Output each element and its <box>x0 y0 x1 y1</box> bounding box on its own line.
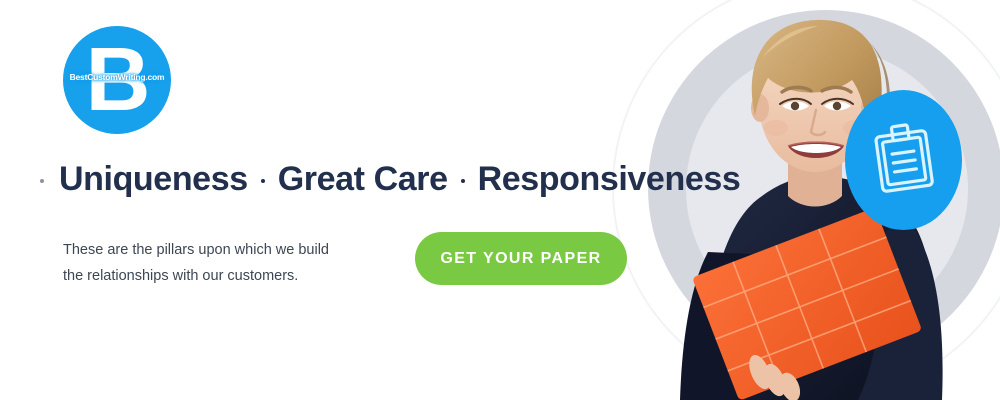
subcopy: These are the pillars upon which we buil… <box>63 237 363 289</box>
clipboard-badge <box>845 90 962 230</box>
subcopy-line-2: the relationships with our customers. <box>63 263 363 289</box>
hero-banner: B BestCustomWriting.com Uniqueness Great… <box>0 0 1000 400</box>
headline-separator-dot <box>461 179 465 183</box>
clipboard-icon <box>866 117 940 202</box>
headline-word-responsiveness: Responsiveness <box>478 160 741 199</box>
site-logo[interactable]: B BestCustomWriting.com <box>63 26 171 134</box>
get-your-paper-button[interactable]: GET YOUR PAPER <box>415 232 627 285</box>
headline: Uniqueness Great Care Responsiveness <box>40 160 740 199</box>
logo-wordmark: BestCustomWriting.com <box>63 72 171 82</box>
headline-separator-dot <box>261 179 265 183</box>
headline-word-great-care: Great Care <box>278 160 448 199</box>
subcopy-line-1: These are the pillars upon which we buil… <box>63 237 363 263</box>
headline-word-uniqueness: Uniqueness <box>59 160 248 199</box>
headline-lead-dot <box>40 179 44 183</box>
